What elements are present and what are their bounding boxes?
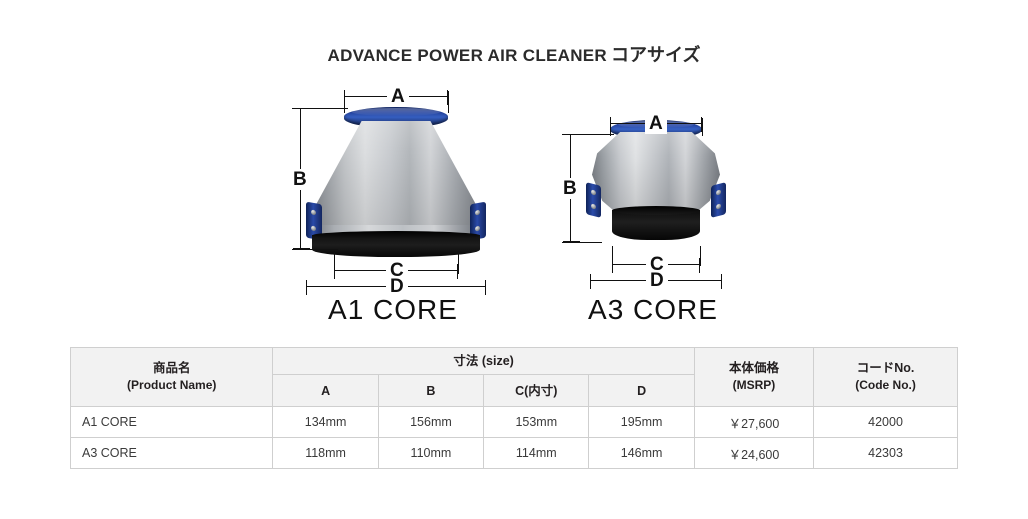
bolt-icon: [311, 225, 316, 231]
cell-product-name: A1 CORE: [71, 407, 273, 438]
header-product-name: 商品名 (Product Name): [71, 348, 273, 407]
bolt-icon: [716, 203, 721, 209]
dim-c-ext-right: [700, 246, 701, 266]
aluminum-cone-body: [310, 121, 482, 231]
blue-bracket-right: [711, 182, 726, 218]
page-title-japanese: コアサイズ: [611, 45, 700, 65]
bolt-icon: [475, 226, 480, 232]
header-price-jp: 本体価格: [729, 361, 779, 375]
dim-a-ext-right: [448, 91, 449, 113]
page-title: ADVANCE POWER AIR CLEANERコアサイズ: [0, 41, 1028, 67]
dim-label-d: D: [646, 270, 668, 291]
dim-b-ext-bottom: [562, 242, 602, 243]
bolt-icon: [716, 189, 721, 195]
cell-dim-d: 195mm: [589, 407, 694, 438]
cell-dim-d: 146mm: [589, 438, 694, 469]
product-image-a3-core: [592, 120, 720, 256]
header-code: コードNo. (Code No.): [814, 348, 958, 407]
header-col-d: D: [589, 375, 694, 407]
page-title-main: ADVANCE POWER AIR CLEANER: [328, 46, 608, 65]
rubber-base: [312, 235, 480, 257]
product-figure-a3-core: A B C D A3 CORE: [548, 112, 758, 337]
header-col-c: C(内寸): [484, 375, 589, 407]
figure-label-a1-core: A1 CORE: [278, 294, 508, 326]
cell-product-name: A3 CORE: [71, 438, 273, 469]
table-body: A1 CORE 134mm 156mm 153mm 195mm ￥27,600 …: [71, 407, 958, 469]
cell-price: ￥27,600: [694, 407, 813, 438]
aluminum-barrel-body: [592, 132, 720, 214]
dim-b-ext-bottom: [292, 249, 338, 250]
table-row: A3 CORE 118mm 110mm 114mm 146mm ￥24,600 …: [71, 438, 958, 469]
blue-bracket-left: [586, 182, 601, 218]
cell-price: ￥24,600: [694, 438, 813, 469]
cell-dim-c: 153mm: [484, 407, 589, 438]
header-col-a: A: [273, 375, 378, 407]
header-code-jp: コードNo.: [857, 361, 915, 375]
dim-a-ext-right: [702, 118, 703, 136]
dim-c-ext-right: [458, 252, 459, 274]
rubber-base: [612, 210, 700, 240]
header-col-b: B: [378, 375, 483, 407]
cell-code: 42303: [814, 438, 958, 469]
spec-table: 商品名 (Product Name) 寸法 (size) 本体価格 (MSRP)…: [70, 347, 958, 469]
table-header: 商品名 (Product Name) 寸法 (size) 本体価格 (MSRP)…: [71, 348, 958, 407]
cell-dim-c: 114mm: [484, 438, 589, 469]
cell-dim-a: 134mm: [273, 407, 378, 438]
table-header-row-1: 商品名 (Product Name) 寸法 (size) 本体価格 (MSRP)…: [71, 348, 958, 375]
bolt-icon: [591, 189, 596, 195]
product-figure-a1-core: A B C D A1 CORE: [278, 82, 508, 337]
dim-label-b: B: [559, 178, 581, 199]
header-product-name-jp: 商品名: [153, 361, 191, 375]
bolt-icon: [311, 209, 316, 215]
dim-label-b: B: [289, 169, 311, 190]
header-product-name-en: (Product Name): [71, 377, 272, 394]
bolt-icon: [591, 203, 596, 209]
dim-label-a: A: [645, 113, 667, 134]
cell-dim-b: 156mm: [378, 407, 483, 438]
table-row: A1 CORE 134mm 156mm 153mm 195mm ￥27,600 …: [71, 407, 958, 438]
header-price: 本体価格 (MSRP): [694, 348, 813, 407]
header-code-en: (Code No.): [814, 377, 957, 394]
product-image-a1-core: [310, 107, 482, 259]
dim-label-a: A: [387, 86, 409, 107]
cell-code: 42000: [814, 407, 958, 438]
header-size-group: 寸法 (size): [273, 348, 694, 375]
cell-dim-a: 118mm: [273, 438, 378, 469]
header-price-en: (MSRP): [695, 377, 813, 394]
figure-label-a3-core: A3 CORE: [548, 294, 758, 326]
cell-dim-b: 110mm: [378, 438, 483, 469]
bolt-icon: [475, 210, 480, 216]
